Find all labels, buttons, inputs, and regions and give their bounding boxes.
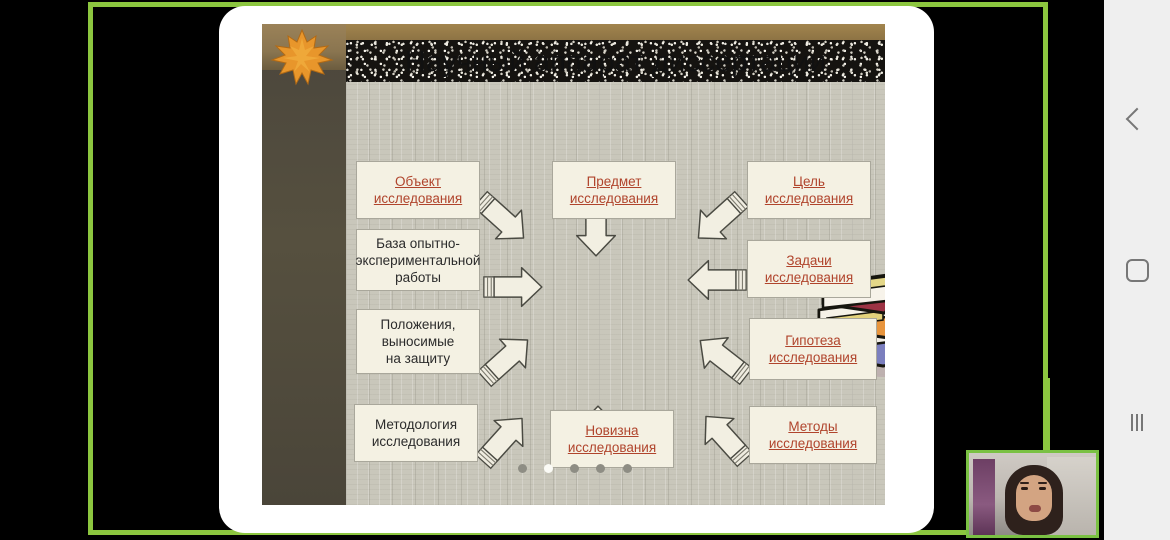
slide-left-decor-bar	[262, 24, 346, 505]
box-goal[interactable]: Цельисследования	[747, 161, 871, 219]
rounded-square-icon	[1126, 259, 1149, 282]
arrow-base	[484, 268, 542, 307]
box-hypothesis[interactable]: Гипотезаисследования	[749, 318, 877, 380]
box-propositions[interactable]: Положения,выносимыена защиту	[356, 309, 480, 374]
pagination-dot[interactable]	[518, 464, 527, 473]
box-tasks[interactable]: Задачиисследования	[747, 240, 871, 298]
arrow-tasks	[688, 261, 746, 300]
arrow-hypothesis	[688, 325, 757, 391]
video-person-eye-left	[1021, 487, 1028, 490]
participant-video-thumbnail[interactable]	[966, 450, 1099, 538]
three-bars-icon	[1131, 414, 1143, 431]
android-navigation-bar	[1104, 0, 1170, 540]
pagination-dots[interactable]	[346, 464, 885, 482]
video-curtain	[973, 459, 995, 535]
nav-recent-apps-button[interactable]	[1104, 399, 1170, 445]
screen-share-edge-marker	[1045, 378, 1050, 450]
video-person-brow-left	[1020, 482, 1029, 484]
arrow-propositions	[472, 326, 541, 393]
nav-home-button[interactable]	[1104, 247, 1170, 293]
box-object[interactable]: Объектисследования	[356, 161, 480, 219]
video-person-mouth	[1029, 505, 1041, 512]
presentation-slide[interactable]: Научный аппарат диссертации	[262, 24, 885, 505]
nav-back-button[interactable]	[1104, 96, 1170, 142]
chevron-left-icon	[1126, 108, 1149, 131]
box-base[interactable]: База опытно-экспериментальнойработы	[356, 229, 480, 291]
box-novelty[interactable]: Новизнаисследования	[550, 410, 674, 468]
slide-title: Научный аппарат диссертации	[346, 46, 885, 79]
pagination-dot[interactable]	[570, 464, 579, 473]
arrow-goal	[686, 185, 755, 252]
box-subject[interactable]: Предметисследования	[552, 161, 676, 219]
box-methodology[interactable]: Методологияисследования	[354, 404, 478, 462]
slide-top-strip	[346, 24, 885, 40]
maple-leaf-icon	[270, 28, 334, 88]
video-person-brow-right	[1038, 482, 1047, 484]
video-frame	[969, 453, 1096, 535]
pagination-dot[interactable]	[623, 464, 632, 473]
video-person-eye-right	[1039, 487, 1046, 490]
box-methods[interactable]: Методыисследования	[749, 406, 877, 464]
screen: Научный аппарат диссертации	[0, 0, 1170, 540]
pagination-dot[interactable]	[596, 464, 605, 473]
pagination-dot-active[interactable]	[544, 464, 553, 473]
